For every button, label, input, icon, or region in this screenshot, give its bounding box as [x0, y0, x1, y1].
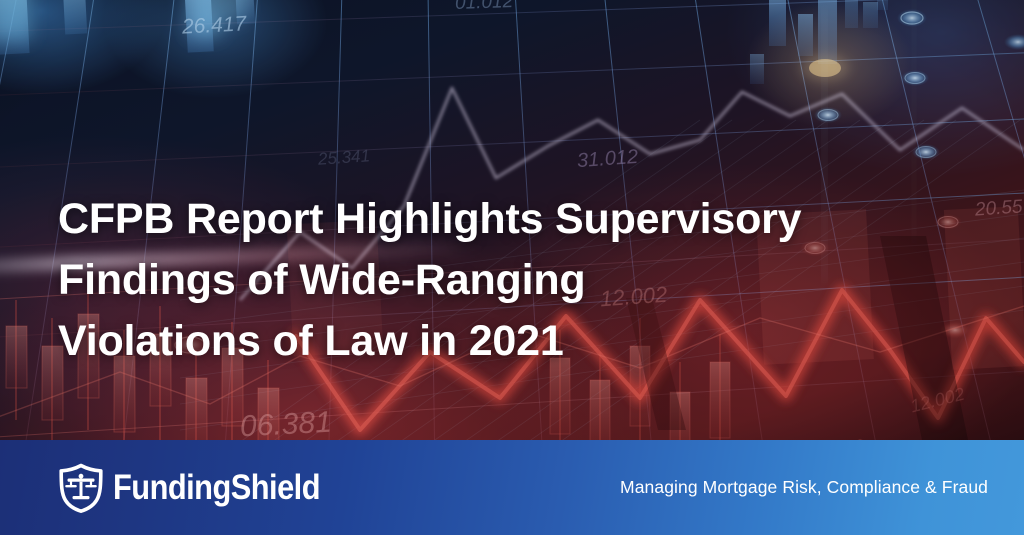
footer-bar: FundingShield Managing Mortgage Risk, Co…	[0, 440, 1024, 535]
brand-logo[interactable]: FundingShield	[58, 463, 348, 513]
shield-scale-icon	[58, 463, 104, 513]
page-title-line-1: CFPB Report Highlights Supervisory	[58, 189, 938, 250]
page-title-line-3: Violations of Law in 2021	[58, 311, 938, 372]
banner-image: 01.01226.41731.01220.5512.00212.00206.38…	[0, 0, 1024, 535]
page-title: CFPB Report Highlights Supervisory Findi…	[58, 189, 938, 372]
footer-tagline: Managing Mortgage Risk, Compliance & Fra…	[620, 477, 988, 498]
brand-name: FundingShield	[113, 468, 320, 508]
page-title-line-2: Findings of Wide-Ranging	[58, 250, 938, 311]
